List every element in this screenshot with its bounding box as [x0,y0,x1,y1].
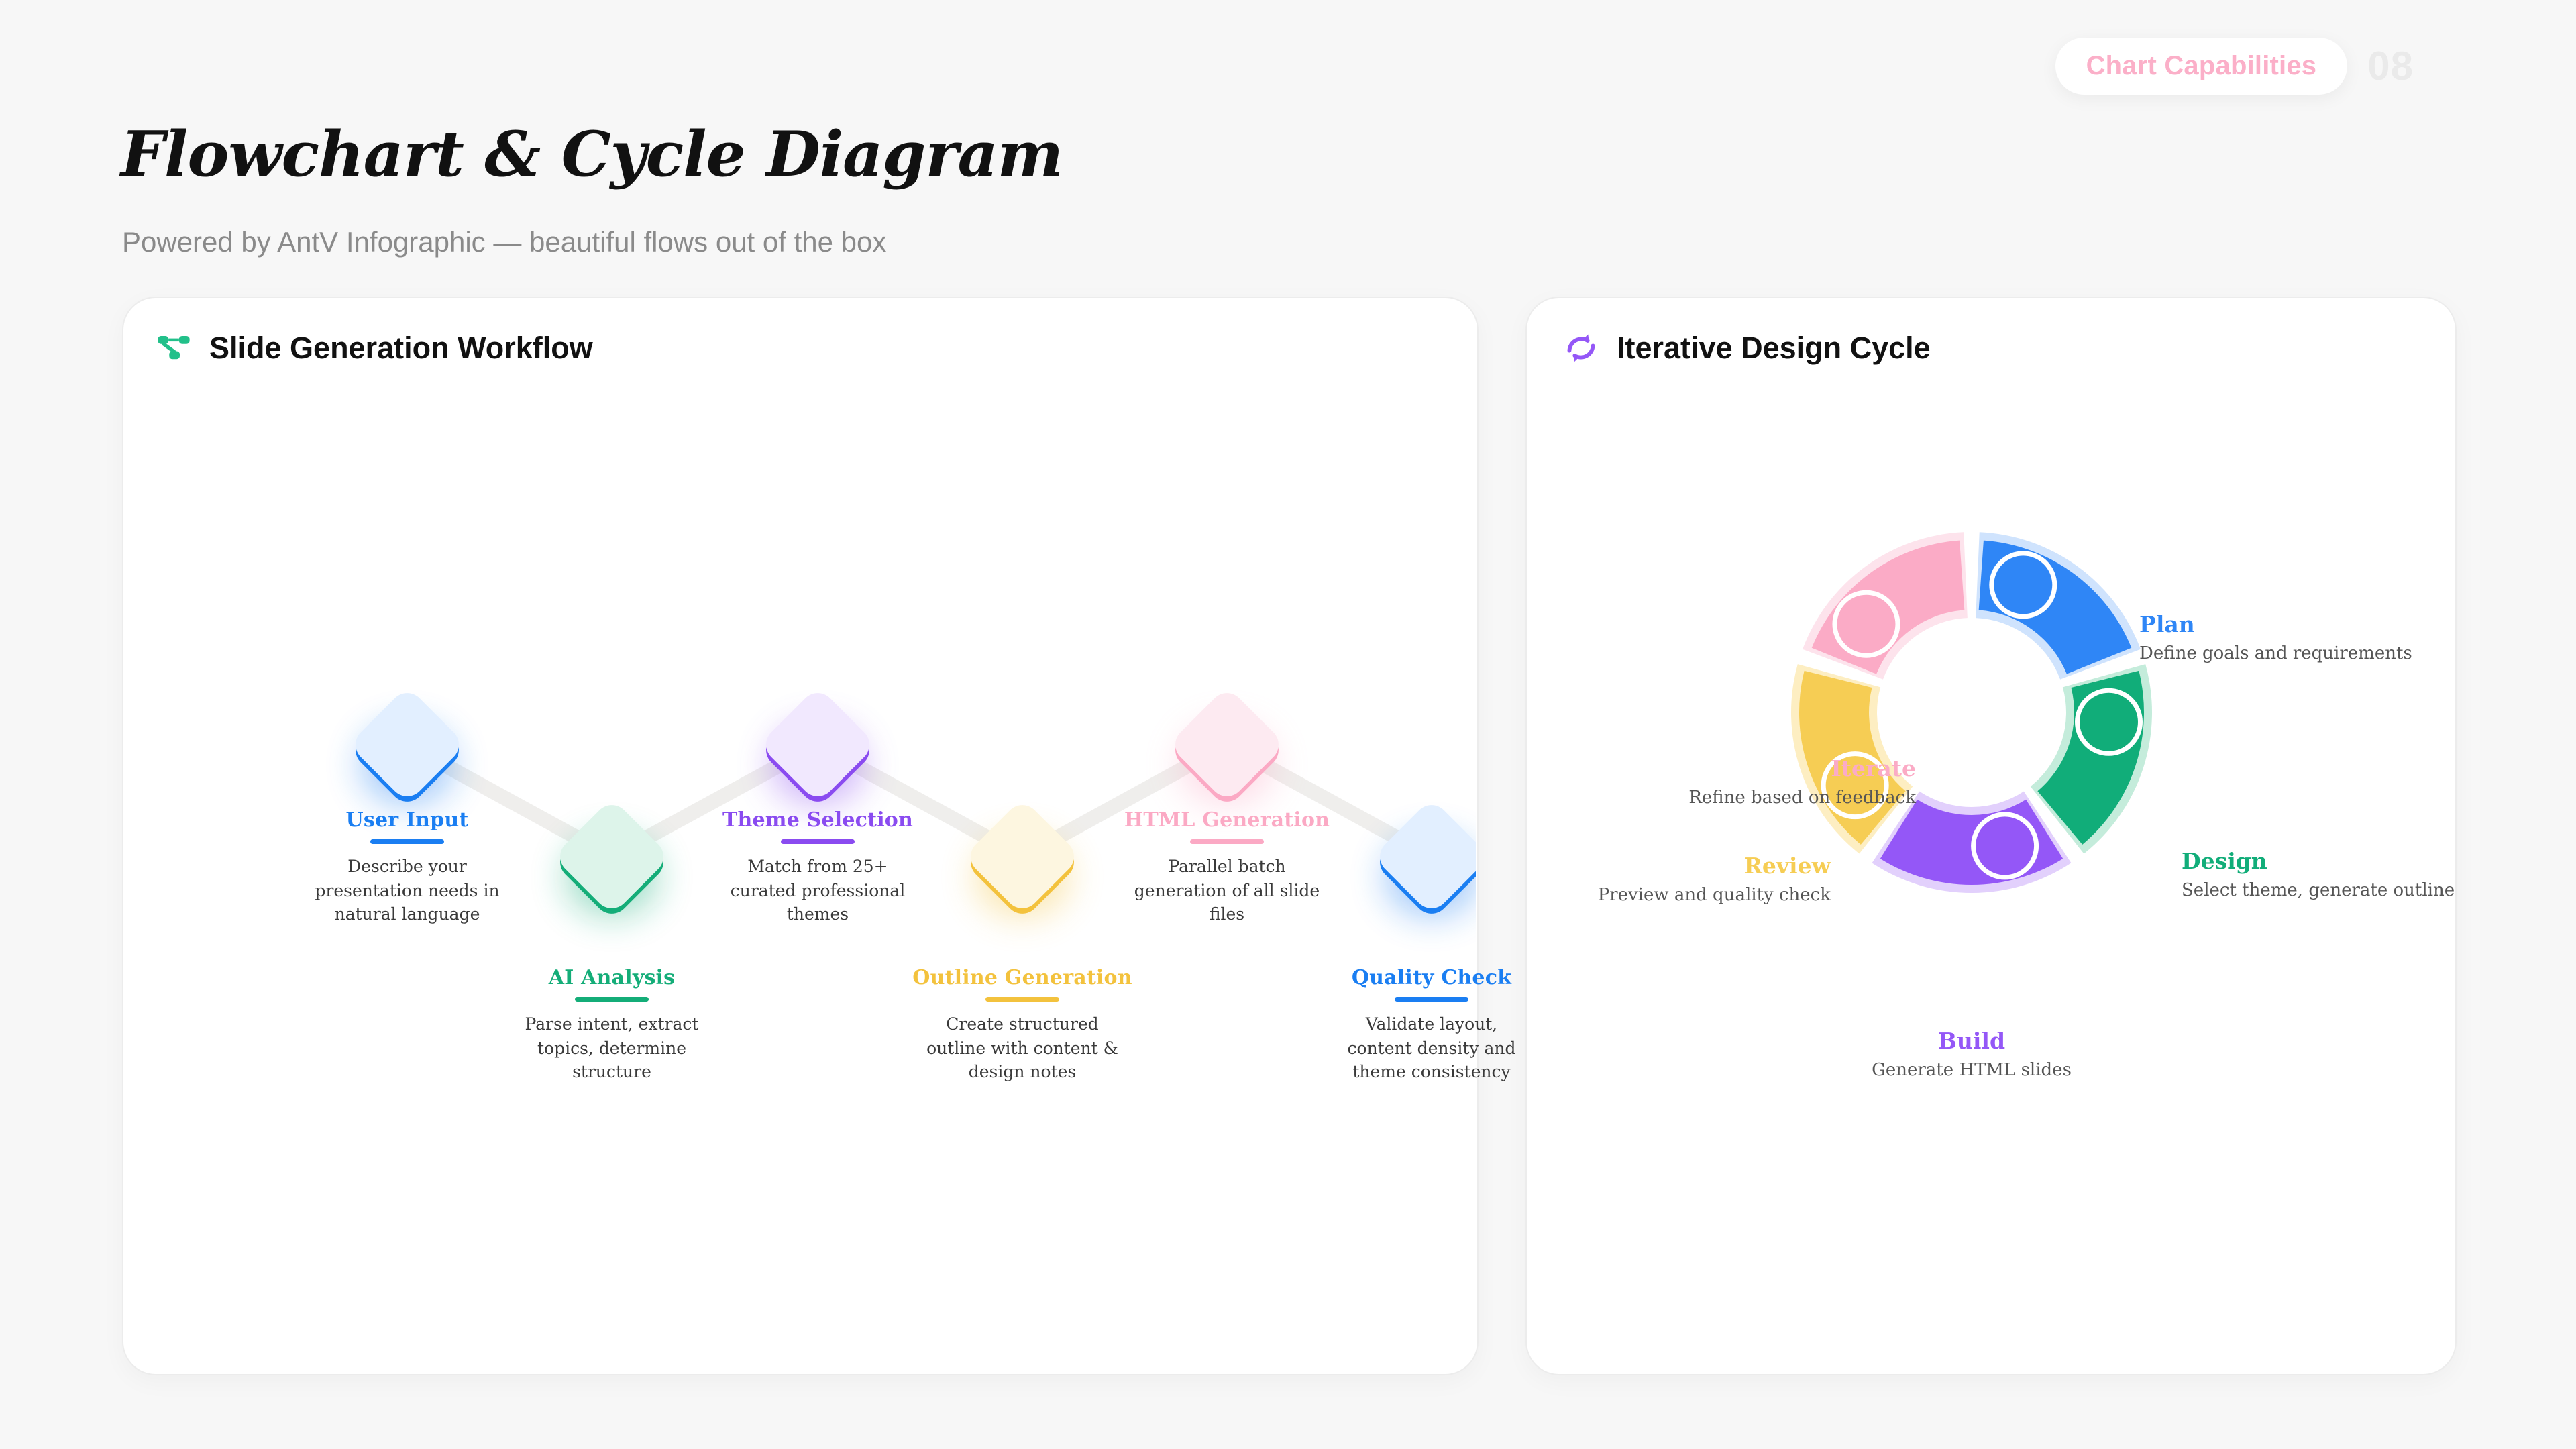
cycle-step-label: IterateRefine based on feedback [1688,755,1916,808]
cycle-step-desc: Refine based on feedback [1688,788,1916,808]
cycle-step-label: BuildGenerate HTML slides [1872,1028,2072,1080]
flow-node-title: Quality Check [1277,966,1586,989]
cycle-step-desc: Select theme, generate outline [2182,880,2455,900]
flow-node[interactable] [963,798,1081,920]
cycle-step-title: Iterate [1688,755,1916,782]
header-badge-group: Chart Capabilities 08 [2055,38,2414,95]
page-number: 08 [2367,43,2414,89]
flow-node-label: User InputDescribe your presentation nee… [253,808,561,926]
flow-node[interactable] [553,798,670,920]
flow-node-label: Theme SelectionMatch from 25+ curated pr… [663,808,972,926]
page-title: Flowchart & Cycle Diagram [121,117,1063,191]
flow-node-desc: Parallel batch generation of all slide f… [1130,855,1324,926]
cycle-step-title: Design [2182,848,2455,874]
flow-node-title: User Input [253,808,561,832]
flow-node-label: HTML GenerationParallel batch generation… [1073,808,1381,926]
flow-node-title: AI Analysis [458,966,766,989]
flow-node-rule [370,839,444,844]
status-badge[interactable]: Chart Capabilities [2055,38,2348,95]
cycle-step-desc: Define goals and requirements [2139,643,2412,663]
flow-node-rule [1395,997,1468,1002]
flow-node-label: AI AnalysisParse intent, extract topics,… [458,966,766,1084]
flow-node-desc: Match from 25+ curated professional them… [720,855,915,926]
page-subtitle: Powered by AntV Infographic — beautiful … [122,226,886,258]
flow-node-rule [575,997,649,1002]
cycle-step-knob[interactable] [1974,814,2037,877]
cycle-step-desc: Preview and quality check [1598,885,1831,905]
cycle-step-desc: Generate HTML slides [1872,1060,2072,1080]
flow-node-title: HTML Generation [1073,808,1381,832]
flow-node-desc: Create structured outline with content &… [925,1012,1120,1084]
flow-node-desc: Parse intent, extract topics, determine … [515,1012,709,1084]
flow-node[interactable] [348,686,466,808]
cycle-step-label: DesignSelect theme, generate outline [2182,848,2455,900]
flow-node-desc: Describe your presentation needs in natu… [310,855,504,926]
cycle-step-knob[interactable] [2078,690,2141,753]
flow-node[interactable] [759,686,876,808]
cycle-step-label: ReviewPreview and quality check [1598,853,1831,905]
flow-node-title: Theme Selection [663,808,972,832]
slide-root: Chart Capabilities 08 Flowchart & Cycle … [0,0,2576,1449]
cycle-step-title: Build [1872,1028,2072,1054]
cycle-graphic [1525,297,2454,1373]
flow-node[interactable] [1168,686,1285,808]
cycle-step-knob[interactable] [1835,592,1898,655]
flow-node-title: Outline Generation [868,966,1177,989]
cycle-step-title: Plan [2139,611,2412,637]
cycle-step-label: PlanDefine goals and requirements [2139,611,2412,663]
flow-node-label: Quality CheckValidate layout, content de… [1277,966,1586,1084]
flow-node-rule [1190,839,1264,844]
flow-node-rule [985,997,1059,1002]
flow-node-label: Outline GenerationCreate structured outl… [868,966,1177,1084]
cycle-step-knob[interactable] [1992,553,2055,616]
cycle-step-title: Review [1598,853,1831,879]
flow-node-rule [781,839,855,844]
flow-node-desc: Validate layout, content density and the… [1334,1012,1529,1084]
